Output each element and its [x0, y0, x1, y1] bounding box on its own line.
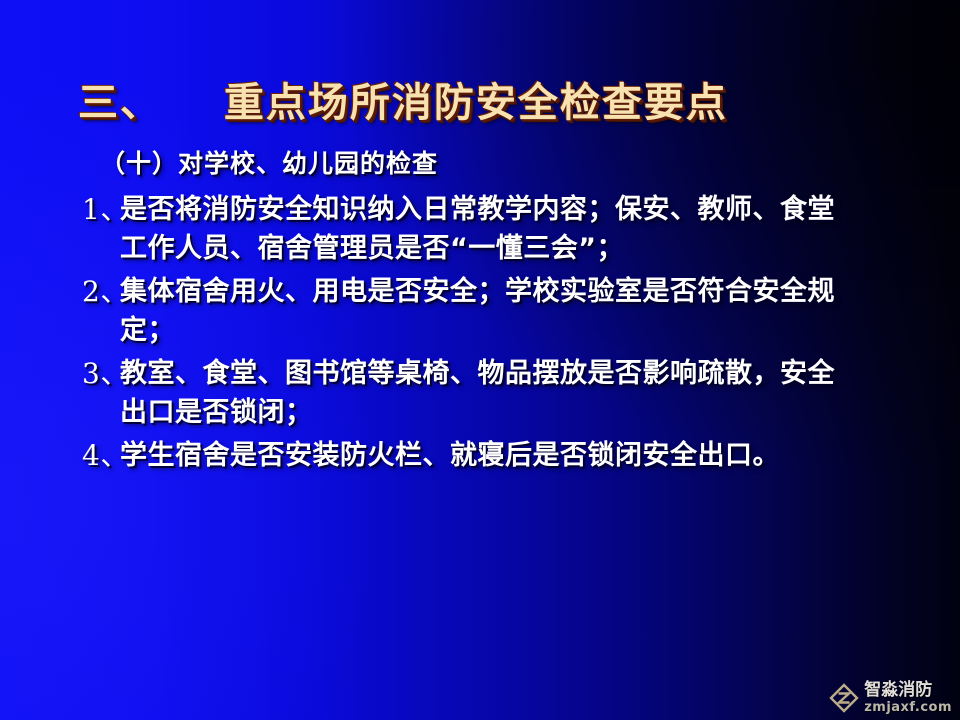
list-item: 3、 教室、食堂、图书馆等桌椅、物品摆放是否影响疏散，安全出口是否锁闭；	[0, 354, 960, 432]
list-item-text: 教室、食堂、图书馆等桌椅、物品摆放是否影响疏散，安全出口是否锁闭；	[120, 354, 850, 432]
presentation-slide: 三、 重点场所消防安全检查要点 （十）对学校、幼儿园的检查 1、 是否将消防安全…	[0, 0, 960, 720]
section-subtitle: （十）对学校、幼儿园的检查	[100, 146, 960, 182]
list-item-marker: 3、	[82, 354, 129, 393]
watermark: 智淼消防 zmjaxf.com	[829, 682, 952, 714]
slide-content: 三、 重点场所消防安全检查要点 （十）对学校、幼儿园的检查 1、 是否将消防安全…	[0, 0, 960, 720]
list-item: 2、 集体宿舍用火、用电是否安全；学校实验室是否符合安全规定；	[0, 272, 960, 350]
watermark-text: 智淼消防 zmjaxf.com	[864, 682, 952, 714]
watermark-url: zmjaxf.com	[864, 701, 952, 714]
slide-body: （十）对学校、幼儿园的检查 1、 是否将消防安全知识纳入日常教学内容；保安、教师…	[0, 146, 960, 479]
page-title-text: 重点场所消防安全检查要点	[224, 79, 728, 126]
list-item-marker: 1、	[82, 190, 129, 229]
diamond-z-logo-icon	[829, 683, 859, 713]
list-item-marker: 2、	[82, 272, 129, 311]
list-item: 1、 是否将消防安全知识纳入日常教学内容；保安、教师、食堂工作人员、宿舍管理员是…	[0, 190, 960, 268]
page-title: 三、 重点场所消防安全检查要点	[78, 78, 888, 128]
list-item: 4、 学生宿舍是否安装防火栏、就寝后是否锁闭安全出口。	[0, 436, 960, 475]
list-item-text: 学生宿舍是否安装防火栏、就寝后是否锁闭安全出口。	[120, 436, 850, 475]
watermark-brand: 智淼消防	[864, 682, 952, 699]
list-item-marker: 4、	[82, 436, 129, 475]
list-item-text: 集体宿舍用火、用电是否安全；学校实验室是否符合安全规定；	[120, 272, 850, 350]
list-item-text: 是否将消防安全知识纳入日常教学内容；保安、教师、食堂工作人员、宿舍管理员是否“一…	[120, 190, 850, 268]
page-title-number: 三、	[78, 79, 162, 126]
